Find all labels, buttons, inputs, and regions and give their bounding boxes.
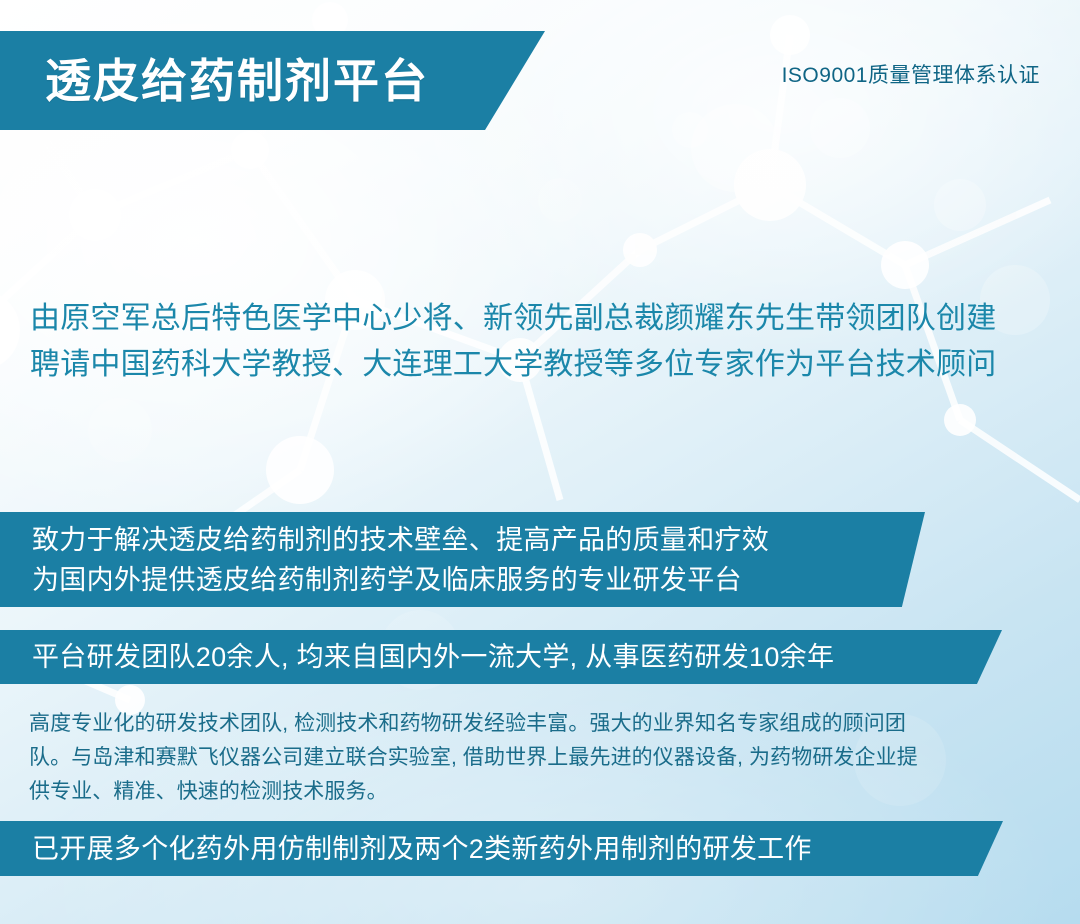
poster-canvas: 透皮给药制剂平台 ISO9001质量管理体系认证 由原空军总后特色医学中心少将、… bbox=[0, 0, 1080, 924]
team-body-line: 供专业、精准、快速的检测技术服务。 bbox=[29, 775, 1051, 809]
intro-line: 由原空军总后特色医学中心少将、新领先副总裁颜耀东先生带领团队创建 bbox=[30, 296, 1054, 342]
projects-callout-bar: 已开展多个化药外用仿制制剂及两个2类新药外用制剂的研发工作 bbox=[0, 821, 1003, 876]
intro-line: 聘请中国药科大学教授、大连理工大学教授等多位专家作为平台技术顾问 bbox=[30, 342, 1054, 388]
iso-certification-label: ISO9001质量管理体系认证 bbox=[782, 59, 1040, 89]
page-title-banner: 透皮给药制剂平台 bbox=[0, 31, 545, 130]
team-line: 平台研发团队20余人, 均来自国内外一流大学, 从事医药研发10余年 bbox=[32, 637, 1002, 677]
team-body-paragraph: 高度专业化的研发技术团队, 检测技术和药物研发经验丰富。强大的业界知名专家组成的… bbox=[29, 707, 1051, 809]
mission-line: 致力于解决透皮给药制剂的技术壁垒、提高产品的质量和疗效 bbox=[32, 520, 925, 560]
intro-paragraph: 由原空军总后特色医学中心少将、新领先副总裁颜耀东先生带领团队创建 聘请中国药科大… bbox=[30, 296, 1054, 388]
team-body-line: 队。与岛津和赛默飞仪器公司建立联合实验室, 借助世界上最先进的仪器设备, 为药物… bbox=[29, 741, 1051, 775]
mission-callout-bar: 致力于解决透皮给药制剂的技术壁垒、提高产品的质量和疗效 为国内外提供透皮给药制剂… bbox=[0, 512, 925, 607]
projects-line: 已开展多个化药外用仿制制剂及两个2类新药外用制剂的研发工作 bbox=[32, 829, 1003, 869]
team-body-line: 高度专业化的研发技术团队, 检测技术和药物研发经验丰富。强大的业界知名专家组成的… bbox=[29, 707, 1051, 741]
team-callout-bar: 平台研发团队20余人, 均来自国内外一流大学, 从事医药研发10余年 bbox=[0, 630, 1002, 684]
page-title: 透皮给药制剂平台 bbox=[45, 58, 429, 104]
mission-line: 为国内外提供透皮给药制剂药学及临床服务的专业研发平台 bbox=[32, 560, 925, 600]
